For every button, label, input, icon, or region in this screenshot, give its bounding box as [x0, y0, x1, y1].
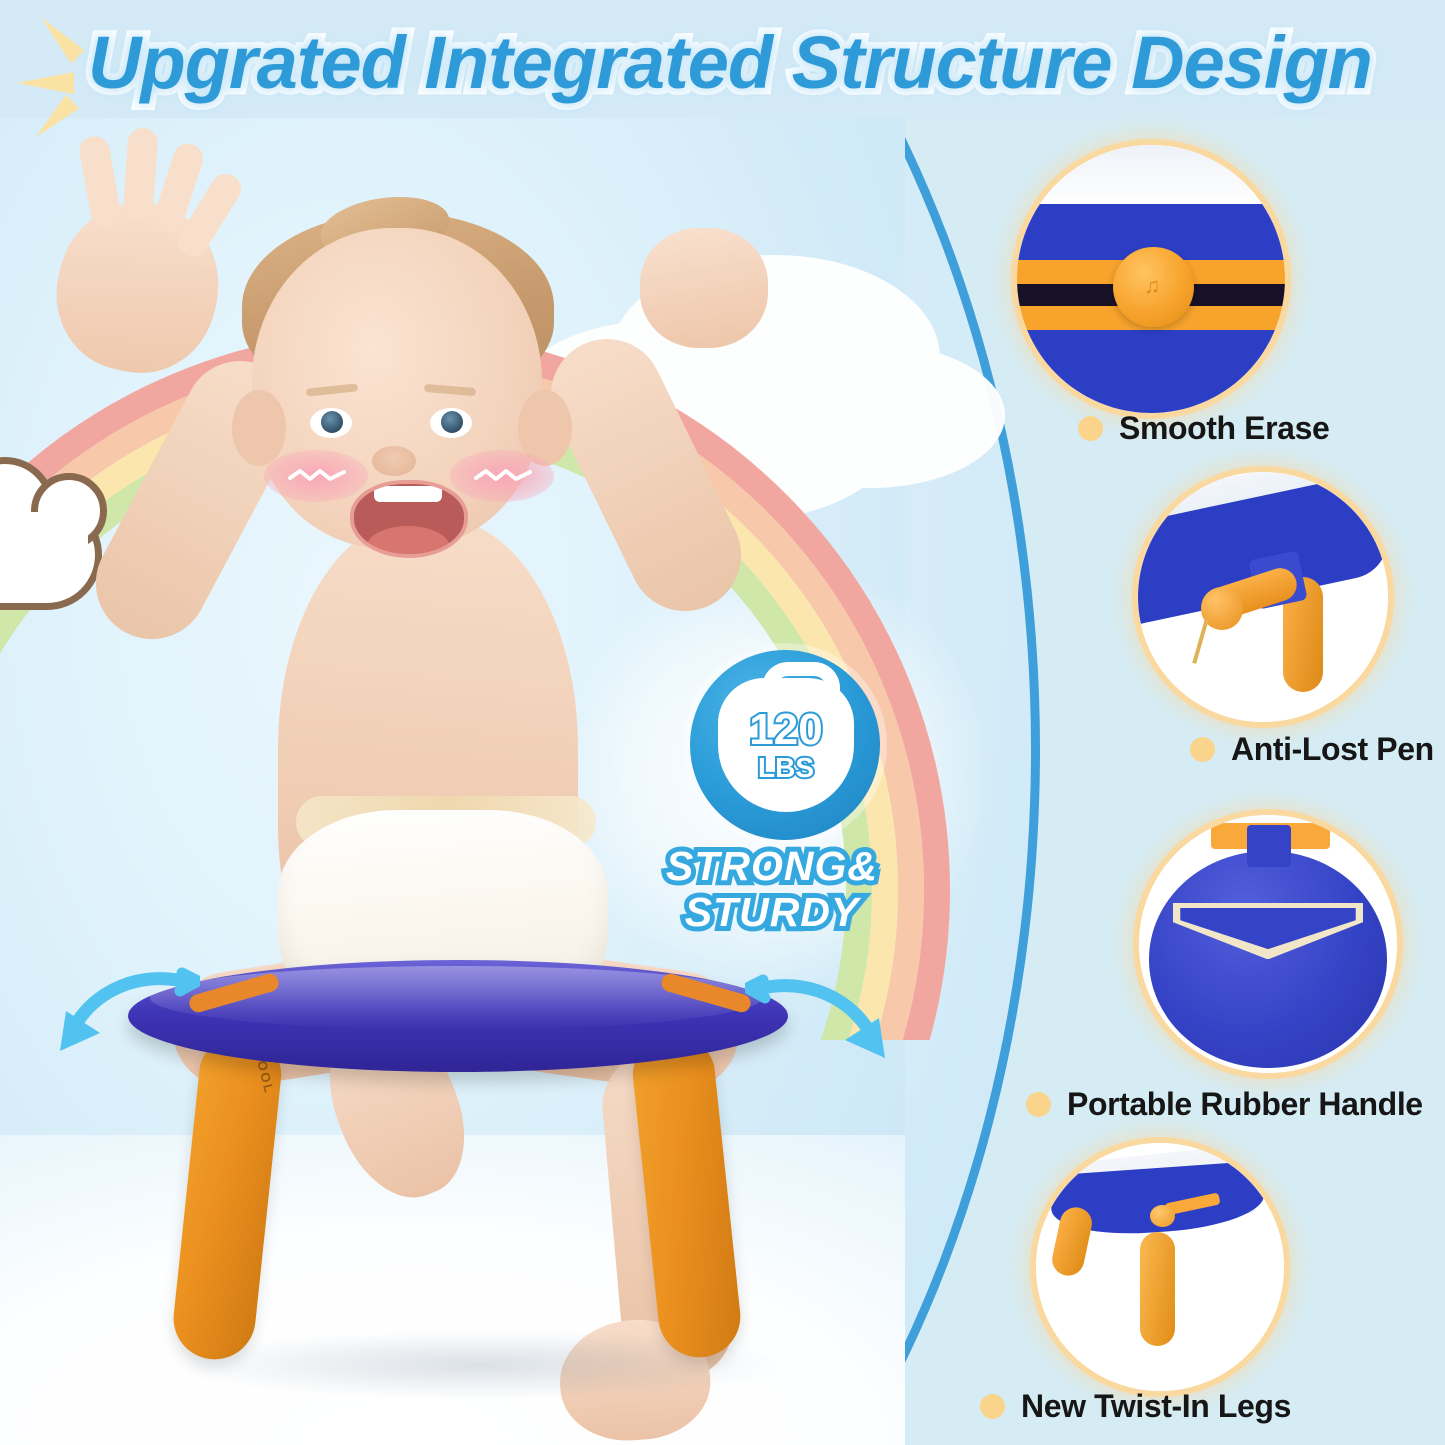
sparkle-rays-icon: [8, 22, 94, 140]
baby-ear-left: [232, 390, 286, 466]
twist-in-legs-closeup-photo: [1036, 1143, 1284, 1391]
attached-stylus-closeup-photo: [1138, 472, 1388, 722]
badge-tagline-line1: STRONG&: [632, 846, 912, 887]
bullet-dot-icon: [980, 1394, 1005, 1419]
rubber-handle-slot-closeup-photo: [1139, 815, 1397, 1073]
feature-label: Smooth Erase: [1119, 410, 1329, 447]
page-title: Upgrated Integrated Structure Design: [88, 24, 1418, 102]
baby-nose: [372, 446, 416, 476]
feature-label-row: New Twist-In Legs: [980, 1388, 1291, 1425]
curved-arrow-left-icon: [30, 955, 200, 1065]
feature-label-row: Anti-Lost Pen: [1190, 731, 1434, 768]
baby-right-fist: [640, 228, 768, 348]
feature-label: New Twist-In Legs: [1021, 1388, 1291, 1425]
curved-arrow-right-icon: [745, 962, 915, 1072]
badge-weight-value: 120: [718, 708, 854, 752]
eraser-slider-closeup-photo: ♫: [1017, 145, 1285, 413]
feature-label: Portable Rubber Handle: [1067, 1086, 1423, 1123]
feature-label-row: Portable Rubber Handle: [1026, 1086, 1423, 1123]
baby-eye-left: [310, 408, 352, 438]
product-infographic: STOOL 120 LBS STRONG& STURDY Upgrated In…: [0, 0, 1445, 1445]
bullet-dot-icon: [1078, 416, 1103, 441]
badge-weight-unit: LBS: [718, 754, 854, 782]
weight-capacity-badge: 120 LBS STRONG& STURDY: [632, 650, 912, 920]
feature-label: Anti-Lost Pen: [1231, 731, 1434, 768]
finger: [122, 127, 158, 221]
badge-tagline-line2: STURDY: [632, 892, 912, 933]
bullet-dot-icon: [1026, 1092, 1051, 1117]
baby-eye-right: [430, 408, 472, 438]
bullet-dot-icon: [1190, 737, 1215, 762]
blush-squiggle-left-icon: [288, 468, 346, 482]
baby-mouth: [350, 480, 468, 558]
baby-right-arm: [532, 320, 760, 630]
feature-label-row: Smooth Erase: [1078, 410, 1329, 447]
blush-squiggle-right-icon: [474, 468, 532, 482]
baby-left-hand: [42, 187, 234, 387]
